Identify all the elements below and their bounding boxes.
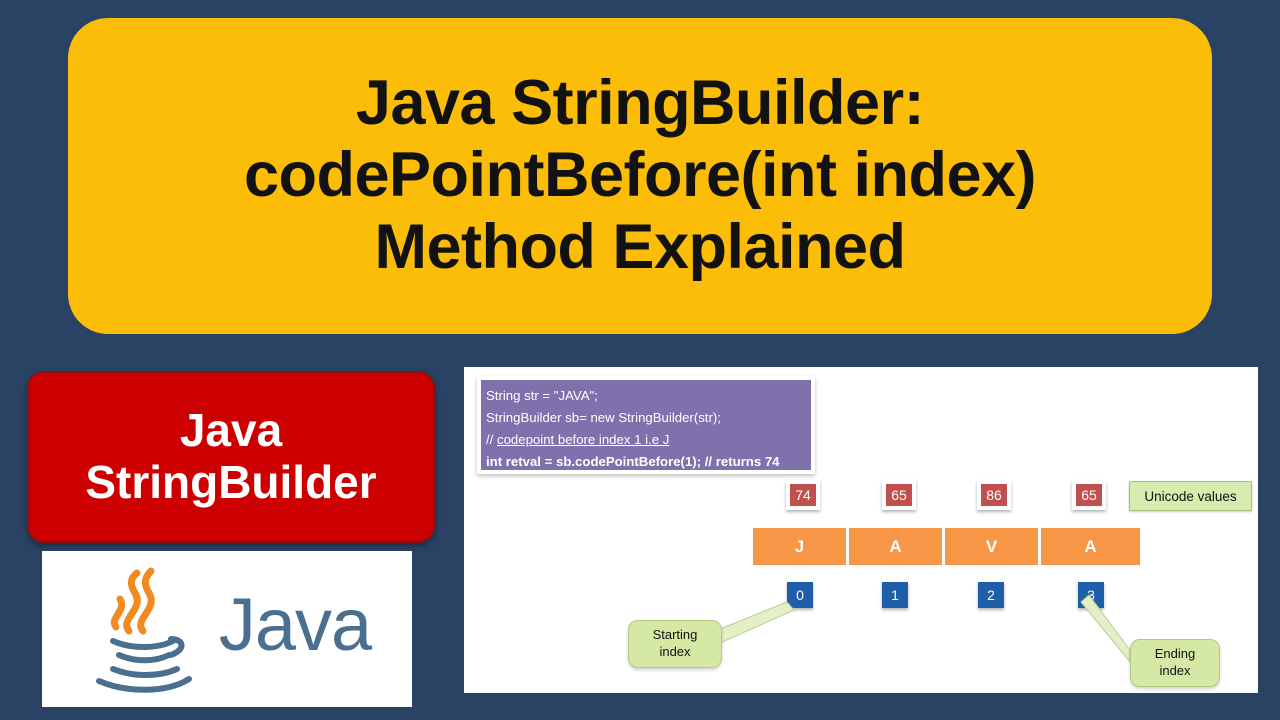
letter-cell-2: V	[945, 528, 1038, 565]
brand-badge: Java StringBuilder	[27, 371, 435, 543]
title-line-3: Method Explained	[374, 212, 905, 284]
java-logo-panel: Java	[42, 551, 412, 707]
code-comment-text: codepoint before index 1 i.e J	[497, 432, 669, 447]
starting-callout-line-2: index	[659, 644, 690, 661]
brand-line-2: StringBuilder	[85, 457, 376, 509]
code-line-4: int retval = sb.codePointBefore(1); // r…	[486, 451, 811, 473]
unicode-box-0: 74	[786, 480, 820, 510]
code-line-2: StringBuilder sb= new StringBuilder(str)…	[486, 407, 811, 429]
title-line-1: Java StringBuilder:	[356, 68, 924, 140]
index-box-0: 0	[787, 582, 813, 608]
index-box-3: 3	[1078, 582, 1104, 608]
unicode-box-3: 65	[1072, 480, 1106, 510]
starting-index-callout: Starting index	[628, 620, 722, 668]
index-box-2: 2	[978, 582, 1004, 608]
ending-index-callout: Ending index	[1130, 639, 1220, 687]
starting-callout-line-1: Starting	[653, 627, 698, 644]
unicode-box-1: 65	[882, 480, 916, 510]
unicode-box-2: 86	[977, 480, 1011, 510]
letter-cell-3: A	[1041, 528, 1140, 565]
slide-root: Java StringBuilder: codePointBefore(int …	[0, 0, 1280, 720]
index-box-1: 1	[882, 582, 908, 608]
diagram-panel: String str = "JAVA"; StringBuilder sb= n…	[464, 367, 1258, 693]
letter-cell-0: J	[753, 528, 846, 565]
ending-callout-line-2: index	[1159, 663, 1190, 680]
code-comment-prefix: //	[486, 432, 497, 447]
letter-cell-1: A	[849, 528, 942, 565]
brand-line-1: Java	[180, 405, 282, 457]
java-wordmark: Java	[219, 588, 371, 670]
title-line-2: codePointBefore(int index)	[244, 140, 1036, 212]
ending-callout-line-1: Ending	[1155, 646, 1195, 663]
title-banner: Java StringBuilder: codePointBefore(int …	[68, 18, 1212, 334]
code-line-1: String str = "JAVA";	[486, 385, 811, 407]
code-line-3: // codepoint before index 1 i.e J	[486, 429, 811, 451]
code-snippet: String str = "JAVA"; StringBuilder sb= n…	[477, 376, 815, 474]
unicode-values-legend: Unicode values	[1129, 481, 1252, 511]
java-coffee-cup-icon	[83, 565, 203, 693]
